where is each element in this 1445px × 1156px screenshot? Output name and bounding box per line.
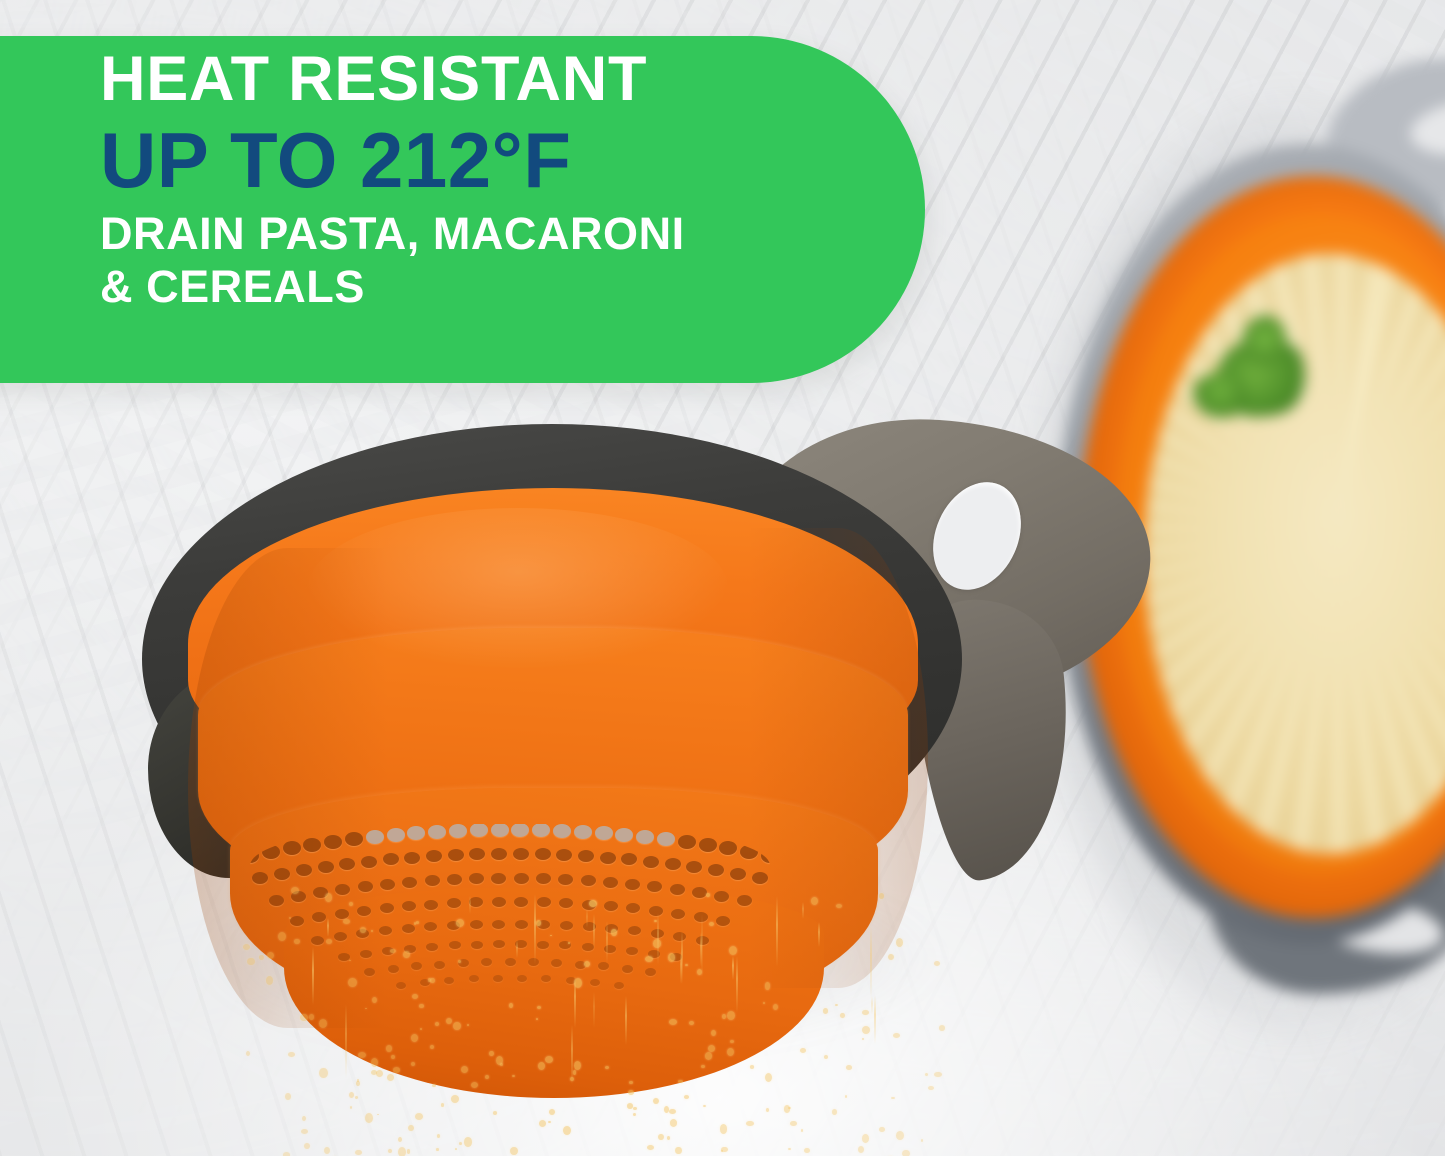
water-droplet	[415, 1113, 423, 1120]
water-droplet	[633, 1107, 637, 1111]
water-droplet	[288, 1052, 295, 1057]
water-droplet	[412, 994, 418, 1000]
water-droplet	[510, 1147, 518, 1156]
banner-subline-1: DRAIN PASTA, MACARONI	[100, 211, 900, 256]
water-droplet	[365, 1008, 367, 1010]
water-droplet	[453, 1022, 461, 1031]
water-droplet	[309, 1014, 314, 1019]
water-droplet	[291, 887, 299, 895]
water-droplet	[811, 897, 818, 905]
water-droplet	[430, 1045, 434, 1050]
water-droplet	[858, 1146, 864, 1153]
drainage-hole	[283, 841, 301, 855]
water-droplet	[388, 1149, 392, 1154]
water-droplet	[669, 1109, 676, 1115]
water-droplet	[684, 1095, 689, 1099]
water-streak	[871, 996, 873, 1015]
banner-headline: HEAT RESISTANT	[100, 48, 900, 111]
water-droplet	[824, 1055, 828, 1059]
water-droplet	[343, 919, 350, 924]
water-droplet	[428, 978, 431, 981]
drainage-hole	[491, 824, 509, 837]
water-droplet	[437, 1134, 440, 1138]
drainage-hole	[366, 830, 384, 844]
water-droplet	[509, 1003, 513, 1008]
water-droplet	[348, 978, 356, 987]
water-droplet	[324, 1147, 330, 1154]
water-droplet	[563, 1126, 571, 1136]
water-droplet	[243, 944, 250, 950]
water-droplet	[398, 1137, 402, 1142]
water-streak	[571, 1025, 573, 1085]
water-streak	[736, 956, 738, 1013]
water-droplet	[283, 1152, 291, 1156]
water-droplet	[721, 1150, 723, 1153]
water-droplet	[573, 1070, 577, 1075]
drainage-hole	[511, 824, 529, 837]
water-droplet	[372, 997, 377, 1003]
water-droplet	[670, 1119, 678, 1127]
water-droplet	[902, 1150, 910, 1156]
water-streak	[681, 931, 683, 984]
water-streak	[776, 896, 778, 967]
water-streak	[469, 896, 471, 913]
water-droplet	[393, 1067, 400, 1073]
water-streak	[574, 975, 576, 1028]
water-droplet	[266, 976, 273, 985]
water-streak	[345, 1004, 347, 1078]
water-droplet	[411, 1062, 415, 1066]
water-droplet	[489, 1051, 494, 1057]
water-droplet	[766, 1108, 770, 1112]
draining-water-droplets	[240, 880, 940, 1156]
drainage-hole	[324, 835, 342, 849]
drainage-hole	[665, 858, 681, 870]
water-droplet	[538, 1062, 545, 1070]
water-droplet	[545, 1056, 554, 1064]
water-droplet	[675, 1147, 681, 1155]
water-droplet	[548, 1121, 551, 1123]
drainage-hole	[761, 849, 770, 863]
water-droplet	[928, 1086, 934, 1090]
water-droplet	[246, 1051, 250, 1057]
water-droplet	[765, 1073, 772, 1082]
water-droplet	[765, 982, 771, 990]
water-droplet	[459, 1142, 462, 1145]
water-droplet	[377, 1114, 379, 1116]
water-droplet	[411, 1034, 418, 1042]
water-droplet	[668, 953, 675, 962]
water-droplet	[407, 1149, 411, 1154]
water-droplet	[840, 1013, 845, 1018]
water-droplet	[711, 1030, 716, 1037]
water-streak	[874, 995, 876, 1045]
water-droplet	[464, 1137, 472, 1147]
water-droplet	[658, 1134, 663, 1140]
water-droplet	[325, 893, 332, 902]
water-droplet	[669, 1019, 677, 1025]
water-droplet	[574, 1061, 581, 1070]
drainage-hole	[470, 824, 488, 837]
drainage-hole	[740, 845, 758, 859]
water-droplet	[278, 932, 286, 941]
water-droplet	[862, 1010, 869, 1016]
drainage-hole	[448, 849, 464, 861]
water-streak	[312, 947, 314, 1005]
water-droplet	[319, 1068, 327, 1079]
water-droplet	[537, 1006, 541, 1009]
water-droplet	[832, 1109, 838, 1115]
water-streak	[593, 914, 595, 950]
water-droplet	[862, 1038, 864, 1040]
water-droplet	[267, 952, 274, 959]
drainage-hole	[491, 848, 507, 860]
banner-subline-2: & CEREALS	[100, 264, 900, 309]
water-droplet	[403, 951, 409, 958]
drainage-hole	[699, 838, 717, 852]
water-droplet	[804, 1148, 810, 1154]
drainage-hole	[553, 824, 571, 838]
water-droplet	[247, 958, 255, 966]
water-droplet	[685, 964, 688, 966]
water-droplet	[391, 1055, 395, 1059]
water-droplet	[458, 960, 460, 963]
drainage-hole	[383, 853, 399, 865]
water-droplet	[611, 929, 617, 935]
drainage-hole	[262, 845, 280, 859]
water-droplet	[921, 1139, 924, 1142]
water-droplet	[376, 1070, 383, 1077]
drainage-hole	[708, 864, 724, 876]
water-droplet	[539, 1120, 547, 1127]
drainage-hole	[578, 850, 594, 862]
drainage-hole	[339, 858, 355, 870]
water-droplet	[689, 1021, 694, 1026]
water-droplet	[512, 1075, 515, 1078]
water-droplet	[568, 942, 570, 944]
water-droplet	[294, 939, 299, 944]
water-droplet	[349, 1092, 354, 1098]
drainage-hole	[643, 856, 659, 868]
water-droplet	[800, 1048, 806, 1053]
water-droplet	[727, 1011, 735, 1020]
water-droplet	[846, 1065, 852, 1069]
water-droplet	[645, 956, 653, 962]
water-droplet	[446, 1018, 452, 1024]
water-droplet	[435, 1022, 440, 1026]
water-streak	[802, 902, 804, 919]
water-droplet	[729, 946, 737, 955]
water-droplet	[891, 1097, 894, 1100]
water-droplet	[319, 1019, 327, 1028]
drainage-hole	[469, 848, 485, 860]
water-droplet	[355, 1150, 362, 1156]
water-droplet	[746, 1121, 753, 1126]
drainage-hole	[636, 830, 654, 844]
water-streak	[586, 909, 588, 928]
drainage-hole	[345, 832, 363, 846]
water-droplet	[730, 1040, 734, 1044]
water-droplet	[416, 921, 420, 924]
water-droplet	[896, 1131, 904, 1140]
water-droplet	[703, 1105, 706, 1108]
water-droplet	[371, 1058, 379, 1068]
water-streak	[516, 940, 518, 958]
water-droplet	[419, 1004, 423, 1008]
water-droplet	[705, 1052, 713, 1060]
water-droplet	[706, 893, 710, 897]
water-droplet	[750, 1065, 755, 1068]
water-streak	[606, 921, 608, 963]
drainage-hole	[532, 824, 550, 837]
water-droplet	[784, 1105, 791, 1112]
water-droplet	[925, 1073, 929, 1077]
drainage-hole	[387, 828, 405, 842]
drainage-hole	[361, 856, 377, 868]
drainage-hole	[274, 868, 290, 880]
drainage-hole	[600, 852, 616, 864]
water-droplet	[326, 939, 332, 944]
water-droplet	[845, 1095, 847, 1098]
drainage-hole	[428, 825, 446, 839]
water-streak	[818, 922, 820, 947]
water-droplet	[763, 1002, 765, 1004]
water-streak	[732, 956, 734, 980]
water-droplet	[371, 930, 373, 932]
water-droplet	[259, 955, 264, 960]
water-streak	[625, 996, 627, 1045]
drainage-hole	[615, 828, 633, 842]
water-droplet	[720, 1124, 727, 1133]
water-streak	[657, 913, 659, 966]
water-droplet	[934, 961, 940, 966]
water-droplet	[790, 1121, 797, 1127]
water-droplet	[408, 1125, 414, 1132]
water-streak	[870, 926, 872, 999]
water-droplet	[862, 1134, 869, 1142]
water-droplet	[584, 961, 590, 967]
water-droplet	[455, 1148, 458, 1150]
water-droplet	[398, 1147, 406, 1156]
water-droplet	[647, 1145, 654, 1150]
water-droplet	[628, 1090, 634, 1095]
water-droplet	[709, 922, 714, 926]
water-droplet	[722, 1014, 726, 1019]
water-droplet	[801, 1129, 804, 1132]
water-droplet	[386, 1045, 393, 1052]
water-droplet	[360, 927, 366, 932]
water-droplet	[701, 1065, 705, 1069]
water-droplet	[304, 1143, 310, 1149]
water-droplet	[550, 935, 552, 937]
water-droplet	[432, 1084, 436, 1088]
water-droplet	[358, 1052, 366, 1058]
water-droplet	[300, 1014, 308, 1022]
water-streak	[700, 932, 702, 967]
water-droplet	[708, 1045, 716, 1052]
water-droplet	[485, 1075, 489, 1080]
drainage-hole	[621, 853, 637, 865]
water-droplet	[456, 919, 464, 927]
water-streak	[534, 894, 536, 964]
banner-temperature: UP TO 212°F	[100, 121, 900, 199]
water-droplet	[589, 900, 597, 908]
drainage-hole	[513, 848, 529, 860]
water-droplet	[836, 904, 842, 908]
water-droplet	[301, 1129, 308, 1134]
water-droplet	[420, 1028, 423, 1030]
water-droplet	[879, 893, 885, 899]
water-droplet	[633, 1113, 636, 1116]
drainage-hole	[678, 835, 696, 849]
drainage-hole	[303, 838, 321, 852]
drainage-hole	[686, 861, 702, 873]
water-droplet	[788, 1148, 791, 1151]
water-droplet	[467, 1024, 470, 1026]
water-droplet	[773, 1004, 778, 1010]
water-streak	[593, 992, 595, 1028]
water-droplet	[349, 960, 351, 962]
water-droplet	[471, 1082, 479, 1088]
water-droplet	[390, 949, 396, 953]
water-droplet	[365, 1113, 373, 1123]
water-droplet	[879, 1127, 885, 1133]
drainage-hole	[730, 868, 746, 880]
water-droplet	[493, 1111, 498, 1115]
drainage-hole	[407, 826, 425, 840]
water-droplet	[653, 1098, 659, 1104]
drainage-hole	[318, 861, 334, 873]
water-droplet	[289, 917, 291, 919]
water-droplet	[536, 1018, 539, 1020]
drainage-hole	[574, 825, 592, 839]
water-droplet	[436, 1148, 439, 1150]
water-droplet	[349, 902, 353, 906]
water-droplet	[896, 938, 903, 947]
water-droplet	[727, 1048, 734, 1056]
drainage-hole	[657, 832, 675, 846]
drainage-hole	[449, 824, 467, 838]
water-droplet	[451, 1095, 459, 1103]
water-droplet	[667, 1136, 670, 1140]
cooked-spaghetti-pasta	[1144, 254, 1445, 854]
water-droplet	[939, 1025, 945, 1031]
water-droplet	[893, 1033, 900, 1038]
drainage-hole	[556, 849, 572, 861]
water-droplet	[888, 954, 894, 960]
water-droplet	[500, 1063, 503, 1066]
water-droplet	[549, 1109, 555, 1115]
drainage-hole	[404, 852, 420, 864]
water-droplet	[356, 1081, 360, 1086]
water-droplet	[835, 1004, 838, 1006]
water-droplet	[302, 1116, 306, 1121]
water-droplet	[536, 920, 542, 926]
water-droplet	[355, 1096, 358, 1099]
water-droplet	[350, 1106, 352, 1109]
water-droplet	[862, 1026, 871, 1035]
water-droplet	[441, 1103, 444, 1106]
product-marketing-image: HEAT RESISTANT UP TO 212°F DRAIN PASTA, …	[0, 0, 1445, 1156]
drainage-hole	[719, 841, 737, 855]
water-droplet	[823, 1008, 829, 1014]
water-droplet	[461, 1066, 468, 1074]
water-droplet	[605, 1066, 609, 1069]
water-streak	[327, 918, 329, 937]
water-droplet	[629, 1081, 632, 1084]
drainage-hole	[426, 850, 442, 862]
drainage-hole	[535, 848, 551, 860]
water-droplet	[678, 1080, 683, 1084]
water-droplet	[285, 1093, 291, 1100]
water-droplet	[387, 1074, 394, 1081]
banner-text-block: HEAT RESISTANT UP TO 212°F DRAIN PASTA, …	[100, 48, 900, 309]
drainage-hole	[296, 864, 312, 876]
drainage-hole	[595, 826, 613, 840]
